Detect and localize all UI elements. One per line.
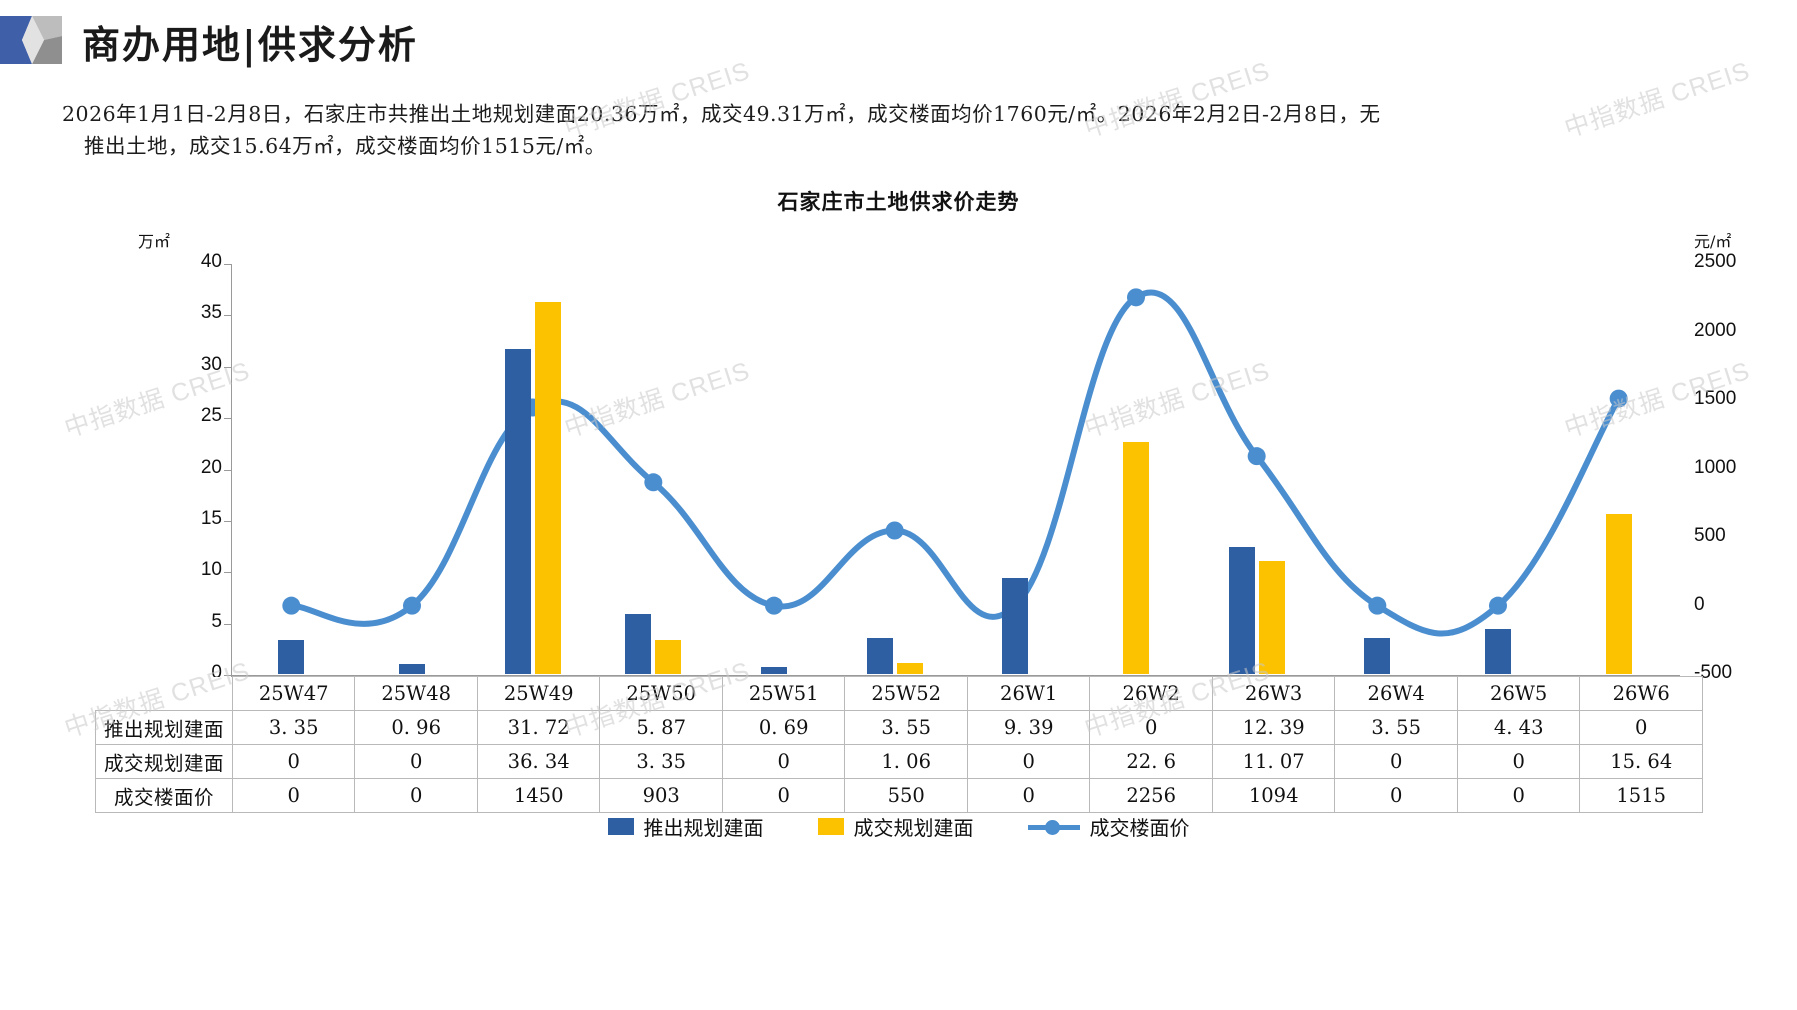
bar-supply bbox=[761, 667, 787, 674]
price-line-path bbox=[291, 293, 1618, 634]
summary-paragraph: 2026年1月1日-2月8日，石家庄市共推出土地规划建面20.36万㎡，成交49… bbox=[62, 98, 1762, 162]
price-line-marker bbox=[403, 597, 421, 615]
legend-label: 成交规划建面 bbox=[854, 812, 974, 841]
bar-deal bbox=[1123, 442, 1149, 674]
price-line-series bbox=[231, 264, 1679, 674]
table-cell: 0 bbox=[967, 745, 1090, 779]
bar-deal bbox=[655, 640, 681, 674]
table-cell: 0 bbox=[232, 745, 355, 779]
price-line-marker bbox=[1127, 288, 1145, 306]
y-axis-tick-mark bbox=[224, 470, 232, 471]
bar-supply bbox=[1485, 629, 1511, 674]
table-cell: 22. 6 bbox=[1090, 745, 1213, 779]
table-cell: 0 bbox=[967, 779, 1090, 813]
y-axis-left-tick-label: 25 bbox=[176, 405, 222, 427]
table-cell: 0 bbox=[355, 745, 478, 779]
y-axis-left-tick-label: 40 bbox=[176, 251, 222, 273]
price-line-marker bbox=[1248, 447, 1266, 465]
table-cell: 3. 35 bbox=[232, 711, 355, 745]
table-col-header: 26W2 bbox=[1090, 677, 1213, 711]
table-cell: 36. 34 bbox=[477, 745, 600, 779]
summary-line-1: 2026年1月1日-2月8日，石家庄市共推出土地规划建面20.36万㎡，成交49… bbox=[62, 98, 1762, 130]
chart-legend: 推出规划建面成交规划建面成交楼面价 bbox=[0, 812, 1797, 841]
bar-supply bbox=[1229, 547, 1255, 674]
bar-deal bbox=[1259, 561, 1285, 674]
table-cell: 0 bbox=[232, 779, 355, 813]
price-line-marker bbox=[886, 522, 904, 540]
table-col-header: 26W4 bbox=[1335, 677, 1458, 711]
price-line-marker bbox=[282, 597, 300, 615]
table-cell: 4. 43 bbox=[1457, 711, 1580, 745]
bar-deal bbox=[897, 663, 923, 674]
table-cell: 0 bbox=[1090, 711, 1213, 745]
y-axis-left-tick-label: 10 bbox=[176, 559, 222, 581]
table-cell: 0 bbox=[1580, 711, 1703, 745]
table-cell: 12. 39 bbox=[1212, 711, 1335, 745]
table-col-header: 26W3 bbox=[1212, 677, 1335, 711]
table-cell: 0 bbox=[1457, 779, 1580, 813]
y-axis-unit-left: 万㎡ bbox=[138, 228, 170, 252]
y-axis-tick-mark bbox=[224, 624, 232, 625]
table-cell: 0 bbox=[355, 779, 478, 813]
table-row: 成交楼面价0014509030550022561094001515 bbox=[96, 779, 1703, 813]
legend-label: 推出规划建面 bbox=[644, 812, 764, 841]
table-col-header: 25W50 bbox=[600, 677, 723, 711]
table-cell: 0 bbox=[1335, 745, 1458, 779]
y-axis-unit-right: 元/㎡ bbox=[1694, 228, 1731, 252]
table-cell: 3. 55 bbox=[1335, 711, 1458, 745]
table-cell: 0 bbox=[1457, 745, 1580, 779]
y-axis-right-tick-label: 0 bbox=[1694, 594, 1764, 616]
bar-supply bbox=[867, 638, 893, 674]
chart-title: 石家庄市土地供求价走势 bbox=[0, 186, 1797, 216]
bar-supply bbox=[278, 640, 304, 674]
table-cell: 11. 07 bbox=[1212, 745, 1335, 779]
table-col-header: 25W52 bbox=[845, 677, 968, 711]
table-cell: 31. 72 bbox=[477, 711, 600, 745]
page-header: 商办用地|供求分析 bbox=[0, 0, 1797, 88]
legend-label: 成交楼面价 bbox=[1090, 812, 1190, 841]
table-cell: 1515 bbox=[1580, 779, 1703, 813]
table-cell: 9. 39 bbox=[967, 711, 1090, 745]
table-row-label: 成交规划建面 bbox=[96, 745, 233, 779]
table-row-label: 成交楼面价 bbox=[96, 779, 233, 813]
chart-plot-area: 万㎡ 元/㎡ 403530252015105025002000150010005… bbox=[0, 228, 1797, 688]
price-line-marker bbox=[1610, 390, 1628, 408]
table-cell: 1. 06 bbox=[845, 745, 968, 779]
y-axis-tick-mark bbox=[224, 572, 232, 573]
table-col-header: 25W47 bbox=[232, 677, 355, 711]
y-axis-right-tick-label: 1500 bbox=[1694, 388, 1764, 410]
legend-swatch-icon bbox=[818, 818, 844, 835]
table-cell: 5. 87 bbox=[600, 711, 723, 745]
table-cell: 3. 55 bbox=[845, 711, 968, 745]
y-axis-tick-mark bbox=[224, 264, 232, 265]
table-col-header: 25W48 bbox=[355, 677, 478, 711]
table-cell: 0 bbox=[1335, 779, 1458, 813]
y-axis-left-tick-label: 15 bbox=[176, 508, 222, 530]
y-axis-left-tick-label: 5 bbox=[176, 611, 222, 633]
y-axis-left-tick-label: 30 bbox=[176, 354, 222, 376]
table-cell: 2256 bbox=[1090, 779, 1213, 813]
y-axis-right-tick-label: 1000 bbox=[1694, 457, 1764, 479]
bar-supply bbox=[1364, 638, 1390, 674]
y-axis-left-tick-label: 20 bbox=[176, 457, 222, 479]
y-axis-tick-mark bbox=[224, 315, 232, 316]
page-title: 商办用地|供求分析 bbox=[82, 14, 418, 69]
table-col-header: 26W5 bbox=[1457, 677, 1580, 711]
legend-line-marker-icon bbox=[1028, 820, 1080, 834]
table-cell: 1094 bbox=[1212, 779, 1335, 813]
table-row-label: 推出规划建面 bbox=[96, 711, 233, 745]
bar-supply bbox=[625, 614, 651, 674]
polygon-logo-icon bbox=[0, 16, 62, 64]
table-cell: 550 bbox=[845, 779, 968, 813]
legend-swatch-icon bbox=[608, 818, 634, 835]
table-cell: 903 bbox=[600, 779, 723, 813]
y-axis-tick-mark bbox=[224, 521, 232, 522]
data-table: 25W4725W4825W4925W5025W5125W5226W126W226… bbox=[95, 676, 1703, 813]
table-col-header: 25W51 bbox=[722, 677, 845, 711]
table-cell: 15. 64 bbox=[1580, 745, 1703, 779]
table-row: 推出规划建面3. 350. 9631. 725. 870. 693. 559. … bbox=[96, 711, 1703, 745]
legend-item[interactable]: 成交楼面价 bbox=[1028, 812, 1190, 841]
price-line-marker bbox=[765, 597, 783, 615]
table-col-header: 26W6 bbox=[1580, 677, 1703, 711]
bar-deal bbox=[535, 302, 561, 674]
bar-supply bbox=[1002, 578, 1028, 674]
legend-item[interactable]: 成交规划建面 bbox=[818, 812, 974, 841]
table-col-header: 26W1 bbox=[967, 677, 1090, 711]
y-axis-right-tick-label: 2000 bbox=[1694, 320, 1764, 342]
summary-line-2: 推出土地，成交15.64万㎡，成交楼面均价1515元/㎡。 bbox=[62, 130, 1762, 162]
table-row: 成交规划建面0036. 343. 3501. 06022. 611. 07001… bbox=[96, 745, 1703, 779]
bar-supply bbox=[399, 664, 425, 674]
legend-item[interactable]: 推出规划建面 bbox=[608, 812, 764, 841]
table-cell: 0. 96 bbox=[355, 711, 478, 745]
y-axis-tick-mark bbox=[224, 418, 232, 419]
y-axis-left-tick-label: 35 bbox=[176, 302, 222, 324]
series-container bbox=[231, 264, 1679, 674]
price-line-marker bbox=[1368, 597, 1386, 615]
table-header-row: 25W4725W4825W4925W5025W5125W5226W126W226… bbox=[96, 677, 1703, 711]
price-line-marker bbox=[1489, 597, 1507, 615]
table-cell: 3. 35 bbox=[600, 745, 723, 779]
price-line-marker bbox=[644, 473, 662, 491]
table-cell: 0. 69 bbox=[722, 711, 845, 745]
y-axis-right-tick-label: 500 bbox=[1694, 525, 1764, 547]
table-cell: 1450 bbox=[477, 779, 600, 813]
table-corner-cell bbox=[96, 677, 233, 711]
table-cell: 0 bbox=[722, 779, 845, 813]
y-axis-right-tick-label: -500 bbox=[1694, 662, 1764, 684]
bar-supply bbox=[505, 349, 531, 674]
y-axis-tick-mark bbox=[224, 367, 232, 368]
y-axis-right-tick-label: 2500 bbox=[1694, 251, 1764, 273]
table-col-header: 25W49 bbox=[477, 677, 600, 711]
bar-deal bbox=[1606, 514, 1632, 674]
table-cell: 0 bbox=[722, 745, 845, 779]
